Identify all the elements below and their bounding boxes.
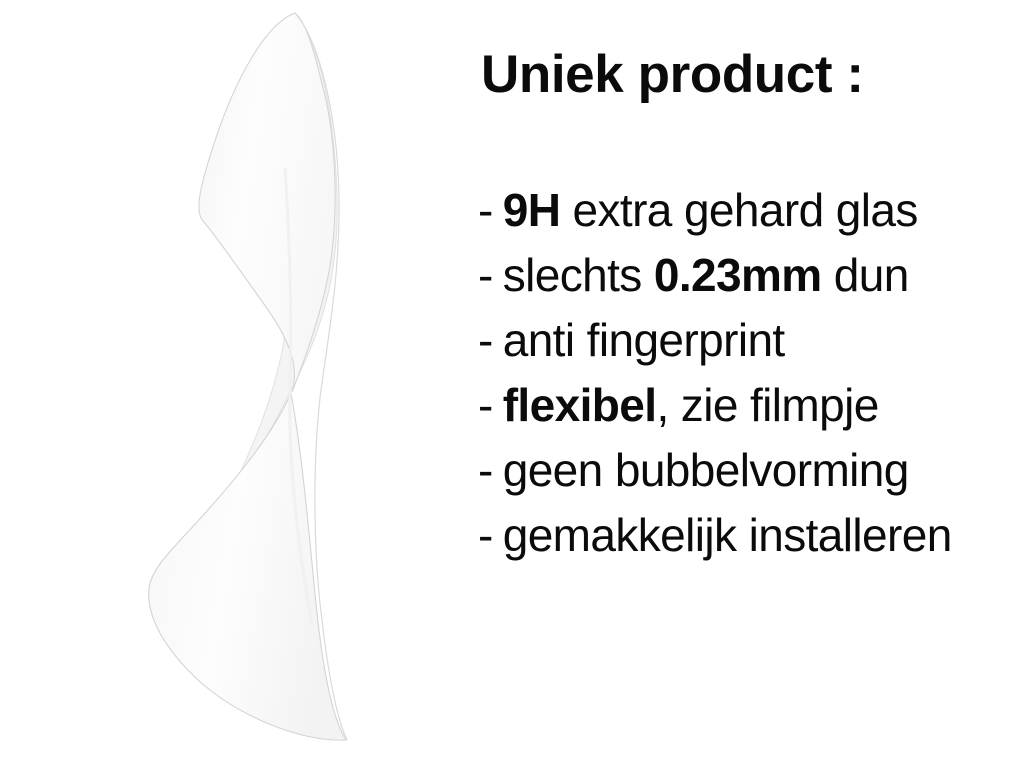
- feature-text: dun: [822, 249, 909, 301]
- bullet-dash: -: [478, 308, 493, 373]
- list-item: -flexibel, zie filmpje: [478, 373, 1024, 438]
- list-item: -anti fingerprint: [478, 308, 1024, 373]
- product-promo-poster: Uniek product : -9H extra gehard glas -s…: [0, 0, 1024, 768]
- bullet-dash: -: [478, 243, 493, 308]
- page-title: Uniek product :: [481, 48, 864, 101]
- feature-text: extra gehard glas: [560, 184, 917, 236]
- bullet-dash: -: [478, 178, 493, 243]
- feature-text-strong: 9H: [503, 184, 561, 236]
- feature-text: anti fingerprint: [503, 314, 785, 366]
- feature-text-strong: 0.23mm: [654, 249, 822, 301]
- feature-list: -9H extra gehard glas -slechts 0.23mm du…: [478, 178, 1024, 568]
- bullet-dash: -: [478, 438, 493, 503]
- copy-column: Uniek product : -9H extra gehard glas -s…: [478, 0, 1024, 768]
- bullet-dash: -: [478, 503, 493, 568]
- feature-text: gemakkelijk installeren: [503, 509, 952, 561]
- list-item: -gemakkelijk installeren: [478, 503, 1024, 568]
- list-item: -geen bubbelvorming: [478, 438, 1024, 503]
- feature-text-strong: flexibel: [503, 379, 657, 431]
- feature-text: slechts: [503, 249, 654, 301]
- feature-text: geen bubbelvorming: [503, 444, 909, 496]
- list-item: -9H extra gehard glas: [478, 178, 1024, 243]
- feature-text: , zie filmpje: [656, 379, 878, 431]
- product-image: [0, 0, 470, 768]
- bullet-dash: -: [478, 373, 493, 438]
- list-item: -slechts 0.23mm dun: [478, 243, 1024, 308]
